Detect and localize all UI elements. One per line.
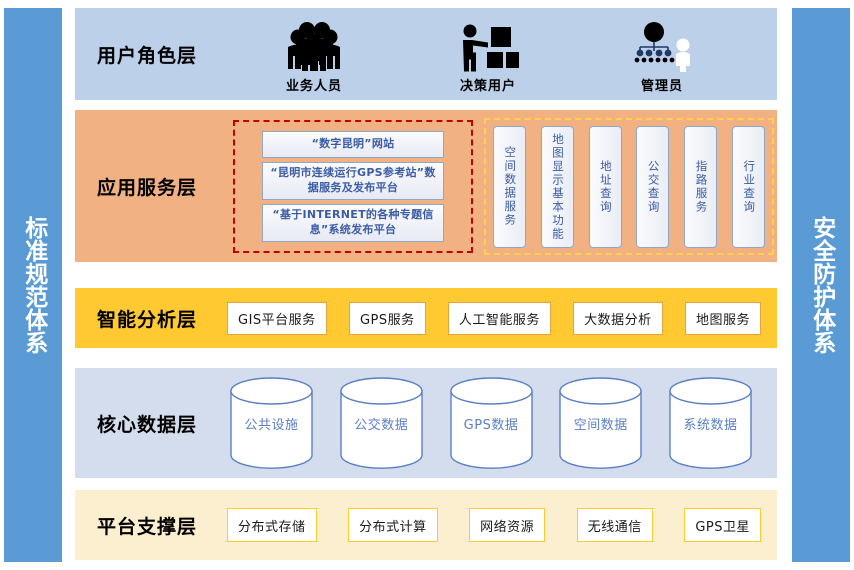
platform-chip-network-resource[interactable]: 网络资源 (469, 508, 545, 542)
platform-box[interactable]: “昆明市连续运行GPS参考站”数据服务及发布平台 (262, 162, 444, 200)
cylinder-label: GPS数据 (464, 414, 519, 433)
analysis-chip-gps[interactable]: GPS服务 (349, 302, 426, 335)
org-hierarchy-icon (631, 20, 693, 72)
analysis-chip-map[interactable]: 地图服务 (685, 302, 761, 335)
service-box-routing[interactable]: 指路服务 (684, 126, 717, 248)
role-administrator: 管理员 (631, 14, 693, 94)
application-service-layer: 应用服务层 “数字昆明”网站 “昆明市连续运行GPS参考站”数据服务及发布平台 … (75, 110, 777, 262)
platform-box[interactable]: “基于INTERNET的各种专题信息”系统发布平台 (262, 204, 444, 242)
service-box-spatial-data[interactable]: 空间数据服务 (493, 126, 526, 248)
service-label: 行业查询 (743, 160, 755, 214)
service-box-bus-query[interactable]: 公交查询 (636, 126, 669, 248)
role-decision-user: 决策用户 (457, 14, 519, 94)
platform-support-layer-label: 平台支撑层 (75, 512, 227, 539)
publishing-platform-group: “数字昆明”网站 “昆明市连续运行GPS参考站”数据服务及发布平台 “基于INT… (233, 120, 473, 253)
service-label: 地址查询 (599, 160, 611, 214)
service-box-map-display[interactable]: 地图显示基本功能 (541, 126, 574, 248)
service-label: 公交查询 (647, 160, 659, 214)
service-label: 空间数据服务 (504, 146, 516, 227)
platform-support-layer: 平台支撑层 分布式存储 分布式计算 网络资源 无线通信 GPS卫星 (75, 490, 777, 560)
analysis-chip-ai[interactable]: 人工智能服务 (448, 302, 551, 335)
service-function-group: 空间数据服务 地图显示基本功能 地址查询 公交查询 指路服务 行业查询 (484, 118, 774, 255)
user-role-layer: 用户角色层 (75, 8, 777, 100)
platform-box[interactable]: “数字昆明”网站 (262, 131, 444, 158)
service-label: 指路服务 (695, 160, 707, 214)
intelligent-analysis-layer-body: GIS平台服务 GPS服务 人工智能服务 大数据分析 地图服务 (227, 288, 777, 348)
role-label: 业务人员 (286, 75, 342, 94)
security-system-bar: 安全防护体系 (792, 8, 850, 562)
intelligent-analysis-layer: 智能分析层 GIS平台服务 GPS服务 人工智能服务 大数据分析 地图服务 (75, 288, 777, 348)
cylinder-label: 空间数据 (574, 414, 628, 433)
architecture-diagram: 标准规范体系 安全防护体系 用户角色层 (0, 0, 854, 570)
cylinder-label: 公交数据 (354, 414, 408, 433)
analysis-chip-gis[interactable]: GIS平台服务 (227, 302, 327, 335)
platform-chip-distributed-storage[interactable]: 分布式存储 (227, 508, 317, 542)
database-cylinder-system-data[interactable]: 系统数据 (666, 377, 755, 469)
role-label: 决策用户 (460, 75, 516, 94)
role-label: 管理员 (641, 75, 683, 94)
database-cylinder-gps-data[interactable]: GPS数据 (447, 377, 536, 469)
analysis-chip-bigdata[interactable]: 大数据分析 (573, 302, 663, 335)
core-data-layer: 核心数据层 公共设施 公交数据 (75, 368, 777, 478)
platform-chip-distributed-computing[interactable]: 分布式计算 (348, 508, 438, 542)
platform-support-layer-body: 分布式存储 分布式计算 网络资源 无线通信 GPS卫星 (227, 490, 777, 560)
cylinder-label: 公共设施 (244, 414, 298, 433)
database-cylinder-spatial-data[interactable]: 空间数据 (556, 377, 645, 469)
application-service-layer-label: 应用服务层 (75, 173, 227, 200)
core-data-layer-body: 公共设施 公交数据 GPS数据 (227, 368, 777, 478)
service-box-address-query[interactable]: 地址查询 (589, 126, 622, 248)
core-data-layer-label: 核心数据层 (75, 410, 227, 437)
security-system-label: 安全防护体系 (806, 216, 835, 354)
group-people-icon (283, 20, 345, 72)
standards-system-bar: 标准规范体系 (4, 8, 62, 562)
standards-system-label: 标准规范体系 (18, 216, 47, 354)
intelligent-analysis-layer-label: 智能分析层 (75, 305, 227, 332)
platform-chip-wireless-comm[interactable]: 无线通信 (577, 508, 653, 542)
application-service-layer-body: “数字昆明”网站 “昆明市连续运行GPS参考站”数据服务及发布平台 “基于INT… (227, 110, 777, 262)
role-business-staff: 业务人员 (283, 14, 345, 94)
user-role-layer-label: 用户角色层 (75, 41, 227, 68)
service-box-industry-query[interactable]: 行业查询 (732, 126, 765, 248)
service-label: 地图显示基本功能 (552, 133, 564, 241)
platform-chip-gps-satellite[interactable]: GPS卫星 (684, 508, 761, 542)
database-cylinder-public-facility[interactable]: 公共设施 (227, 377, 316, 469)
cylinder-label: 系统数据 (683, 414, 737, 433)
database-cylinder-bus-data[interactable]: 公交数据 (337, 377, 426, 469)
user-role-layer-body: 业务人员 决策用 (227, 8, 777, 100)
person-with-charts-icon (457, 20, 519, 72)
